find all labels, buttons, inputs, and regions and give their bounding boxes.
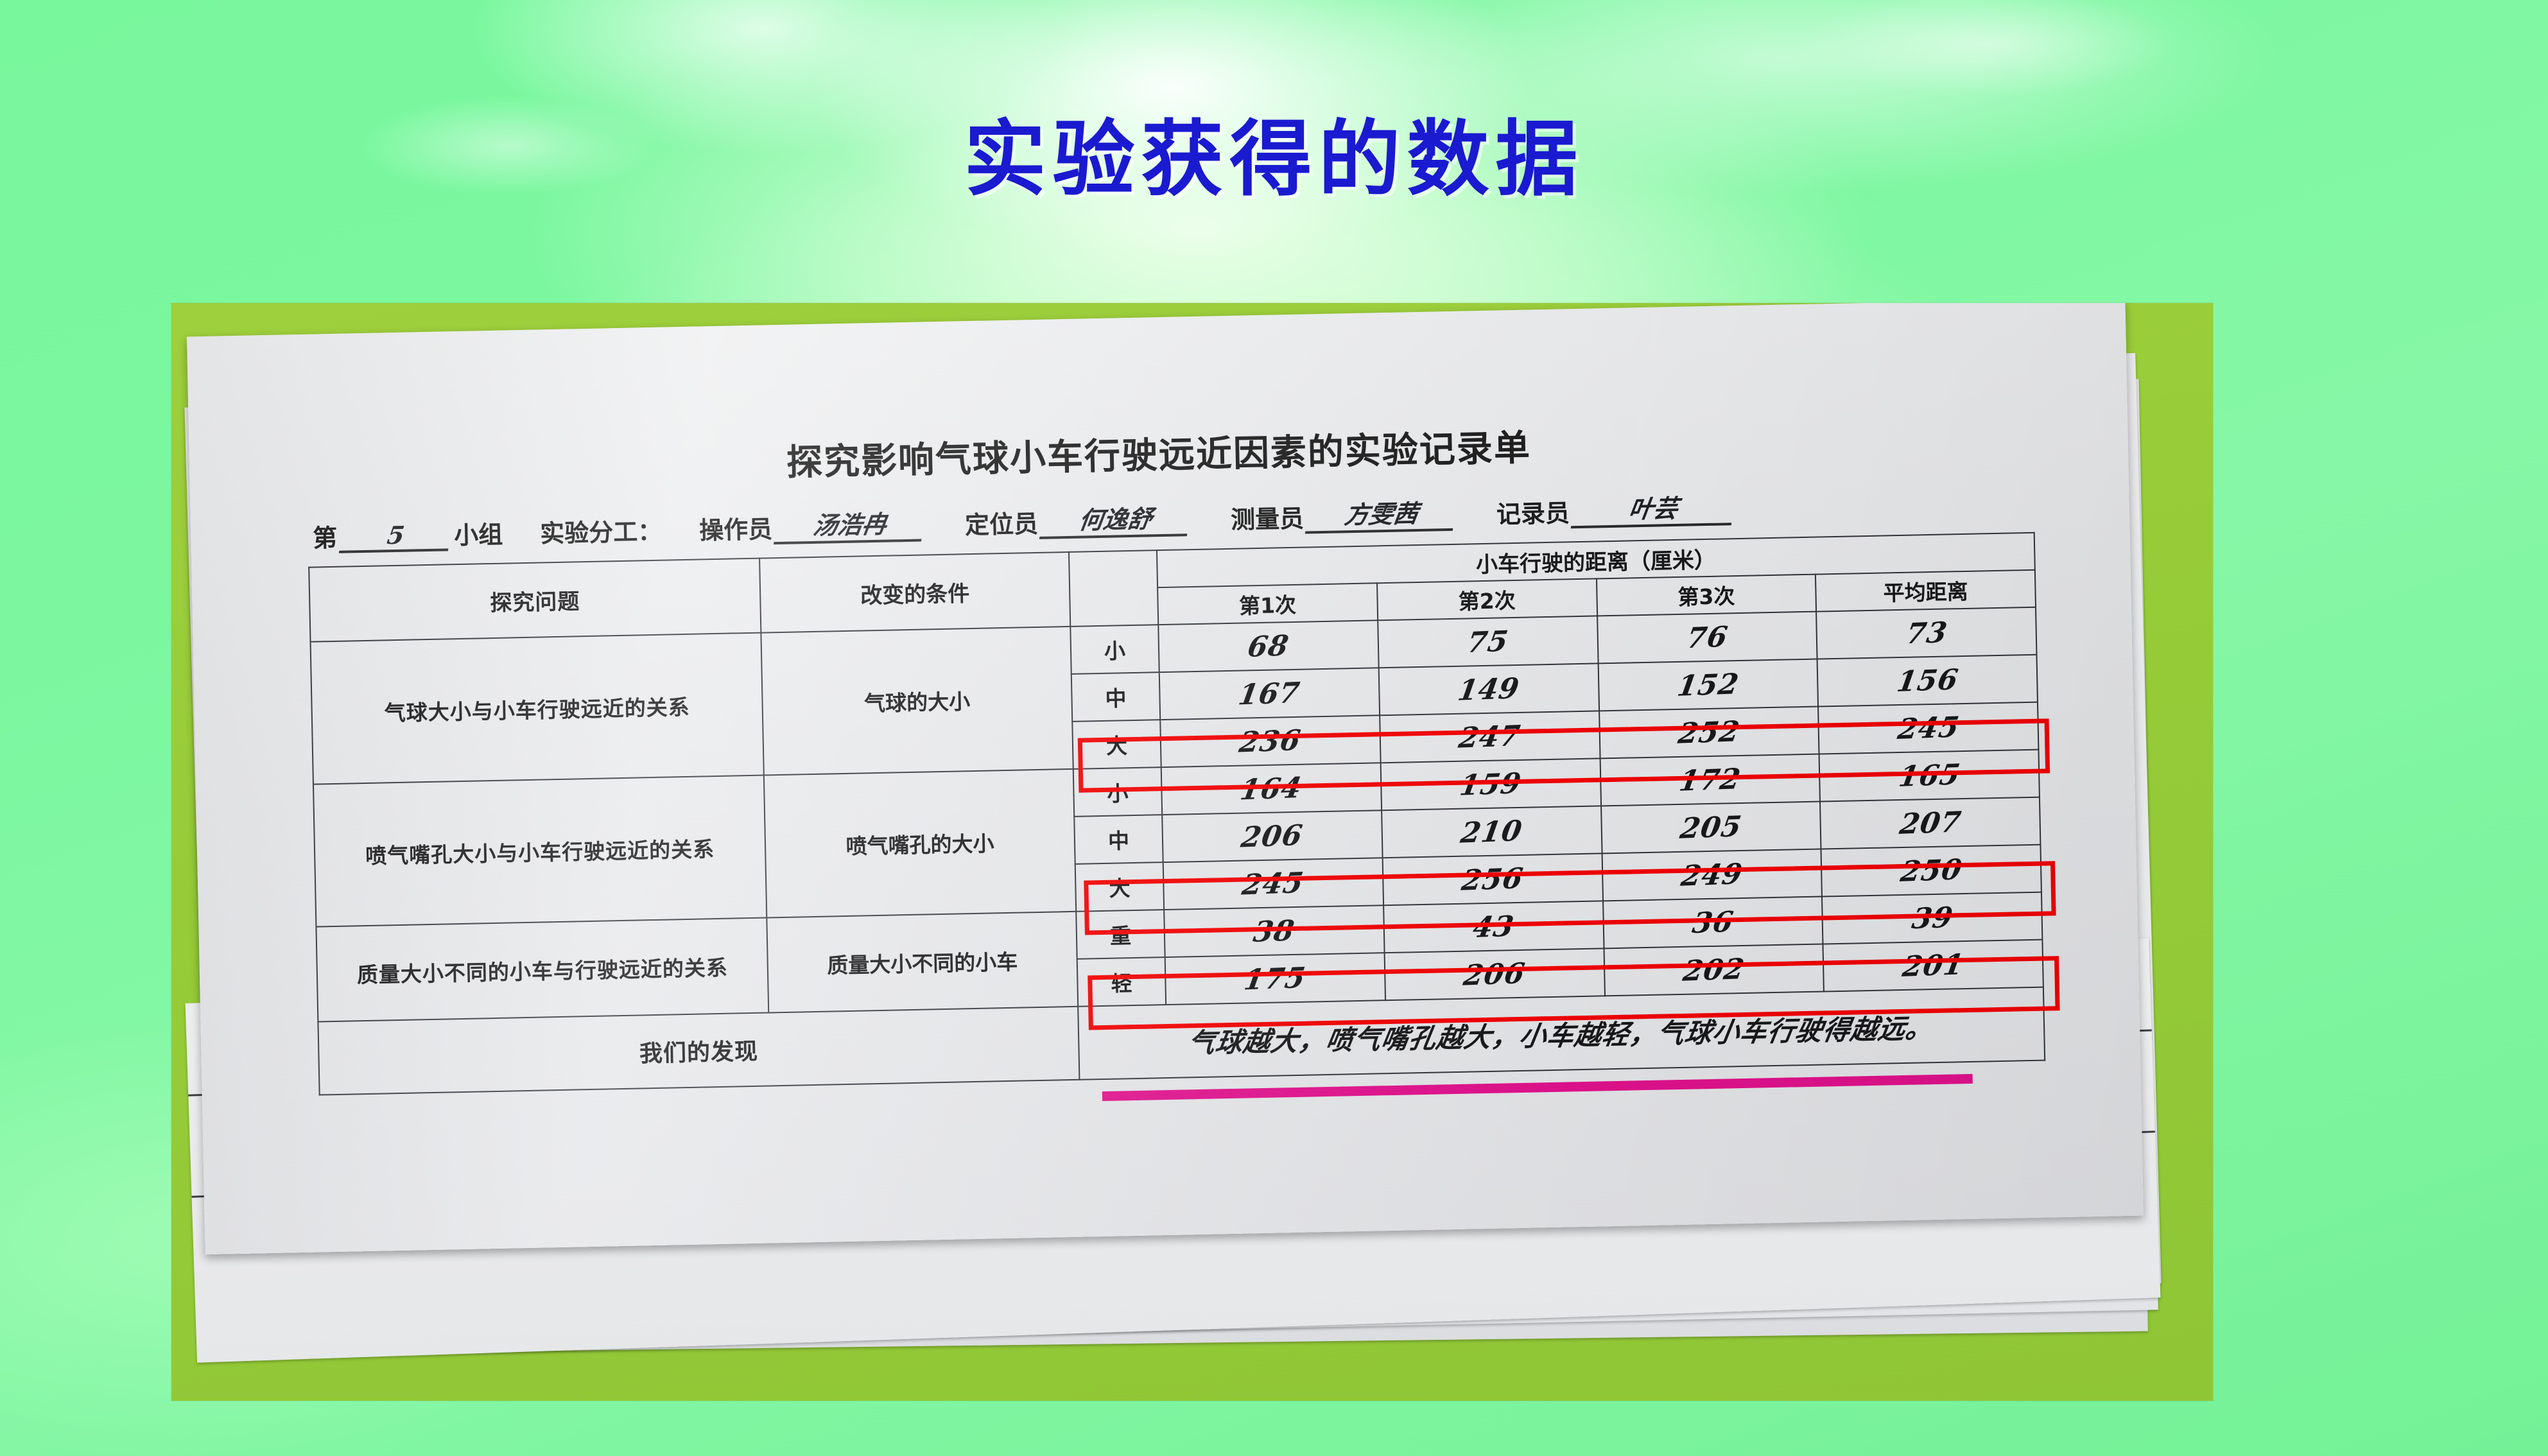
value-cell: 172 bbox=[1600, 754, 1820, 806]
value-cell: 39 bbox=[1822, 892, 2042, 944]
header-trial-3: 第3次 bbox=[1596, 575, 1816, 616]
block-condition-1: 喷气嘴孔的大小 bbox=[764, 769, 1076, 918]
role-operator: 操作员 汤浩冉 bbox=[699, 503, 928, 546]
value-cell: 159 bbox=[1380, 758, 1600, 810]
row-level: 大 bbox=[1072, 720, 1161, 769]
header-question: 探究问题 bbox=[309, 559, 761, 642]
role-recorder-name: 叶芸 bbox=[1571, 487, 1737, 528]
role-recorder-label: 记录员 bbox=[1496, 493, 1570, 530]
group-prefix-label: 第 bbox=[313, 518, 338, 554]
header-trial-2: 第2次 bbox=[1377, 578, 1597, 620]
value-cell: 43 bbox=[1383, 901, 1604, 953]
group-field: 第 5 小组 bbox=[313, 515, 503, 554]
value-cell: 247 bbox=[1380, 711, 1600, 763]
worksheet-photo: 213 气球越小，喷气嘴孔越小，小车越重，小车行驶距离越短。 探究影响气球小车行… bbox=[171, 303, 2213, 1401]
row-level: 大 bbox=[1075, 862, 1164, 912]
value-cell: 152 bbox=[1598, 659, 1818, 711]
value-cell: 206 bbox=[1384, 948, 1604, 1000]
value-cell: 68 bbox=[1158, 620, 1378, 672]
group-number-value: 5 bbox=[339, 519, 453, 553]
role-positioner-name: 何逸舒 bbox=[1039, 498, 1192, 539]
value-cell: 256 bbox=[1382, 853, 1602, 905]
header-condition: 改变的条件 bbox=[759, 552, 1070, 633]
annotation-overlay bbox=[187, 303, 2125, 336]
value-cell: 207 bbox=[1820, 797, 2040, 849]
value-cell: 210 bbox=[1382, 806, 1602, 858]
value-cell: 236 bbox=[1160, 715, 1380, 767]
role-recorder: 记录员 叶芸 bbox=[1496, 487, 1738, 530]
value-cell: 205 bbox=[1601, 802, 1821, 854]
role-measurer-label: 测量员 bbox=[1230, 499, 1304, 535]
row-level: 小 bbox=[1070, 625, 1159, 674]
value-cell: 175 bbox=[1165, 953, 1385, 1005]
header-trial-1: 第1次 bbox=[1157, 583, 1378, 625]
value-cell: 164 bbox=[1161, 763, 1382, 815]
value-cell: 249 bbox=[1602, 849, 1822, 901]
role-positioner: 定位员 何逸舒 bbox=[964, 498, 1193, 541]
magenta-marker-underline bbox=[1102, 1074, 1973, 1101]
value-cell: 245 bbox=[1163, 858, 1383, 910]
row-level: 小 bbox=[1073, 767, 1162, 817]
value-cell: 75 bbox=[1378, 616, 1598, 668]
role-measurer-name: 方雯茜 bbox=[1305, 493, 1458, 534]
header-trial-4: 平均距离 bbox=[1816, 570, 2036, 612]
role-operator-label: 操作员 bbox=[699, 509, 773, 546]
row-level: 中 bbox=[1074, 815, 1163, 864]
role-measurer: 测量员 方雯茜 bbox=[1230, 493, 1459, 535]
row-level: 重 bbox=[1076, 910, 1165, 959]
value-cell: 252 bbox=[1599, 707, 1819, 759]
value-cell: 206 bbox=[1162, 810, 1382, 862]
value-cell: 73 bbox=[1816, 607, 2036, 659]
block-question-2: 质量大小不同的小车与行驶远近的关系 bbox=[316, 918, 768, 1022]
role-positioner-label: 定位员 bbox=[965, 504, 1039, 541]
value-cell: 76 bbox=[1597, 612, 1817, 664]
value-cell: 202 bbox=[1604, 944, 1824, 996]
block-question-1: 喷气嘴孔大小与小车行驶远近的关系 bbox=[313, 776, 767, 927]
value-cell: 250 bbox=[1821, 845, 2041, 897]
role-operator-name: 汤浩冉 bbox=[774, 503, 926, 544]
group-suffix-label: 小组 bbox=[454, 515, 503, 551]
block-question-0: 气球大小与小车行驶远近的关系 bbox=[311, 633, 764, 784]
page-title: 实验获得的数据 bbox=[0, 116, 2548, 204]
block-condition-2: 质量大小不同的小车 bbox=[767, 912, 1078, 1013]
header-level bbox=[1069, 550, 1158, 627]
roles-label: 实验分工： bbox=[540, 512, 663, 550]
value-cell: 245 bbox=[1818, 702, 2038, 754]
value-cell: 149 bbox=[1378, 663, 1599, 715]
row-level: 轻 bbox=[1077, 957, 1166, 1007]
value-cell: 38 bbox=[1164, 905, 1384, 957]
value-cell: 156 bbox=[1817, 655, 2038, 707]
row-level: 中 bbox=[1071, 672, 1160, 722]
value-cell: 201 bbox=[1823, 940, 2043, 992]
experiment-record-table: 探究问题改变的条件小车行驶的距离（厘米）第1次第2次第3次平均距离气球大小与小车… bbox=[308, 532, 2045, 1096]
value-cell: 165 bbox=[1819, 750, 2040, 802]
value-cell: 36 bbox=[1603, 897, 1823, 949]
block-condition-0: 气球的大小 bbox=[761, 627, 1073, 776]
main-record-sheet: 探究影响气球小车行驶远近因素的实验记录单 第 5 小组 实验分工： 操作员 汤浩… bbox=[187, 303, 2144, 1254]
value-cell: 167 bbox=[1159, 668, 1380, 720]
roles-label-text: 实验分工： bbox=[540, 512, 663, 550]
findings-label: 我们的发现 bbox=[318, 1007, 1079, 1095]
